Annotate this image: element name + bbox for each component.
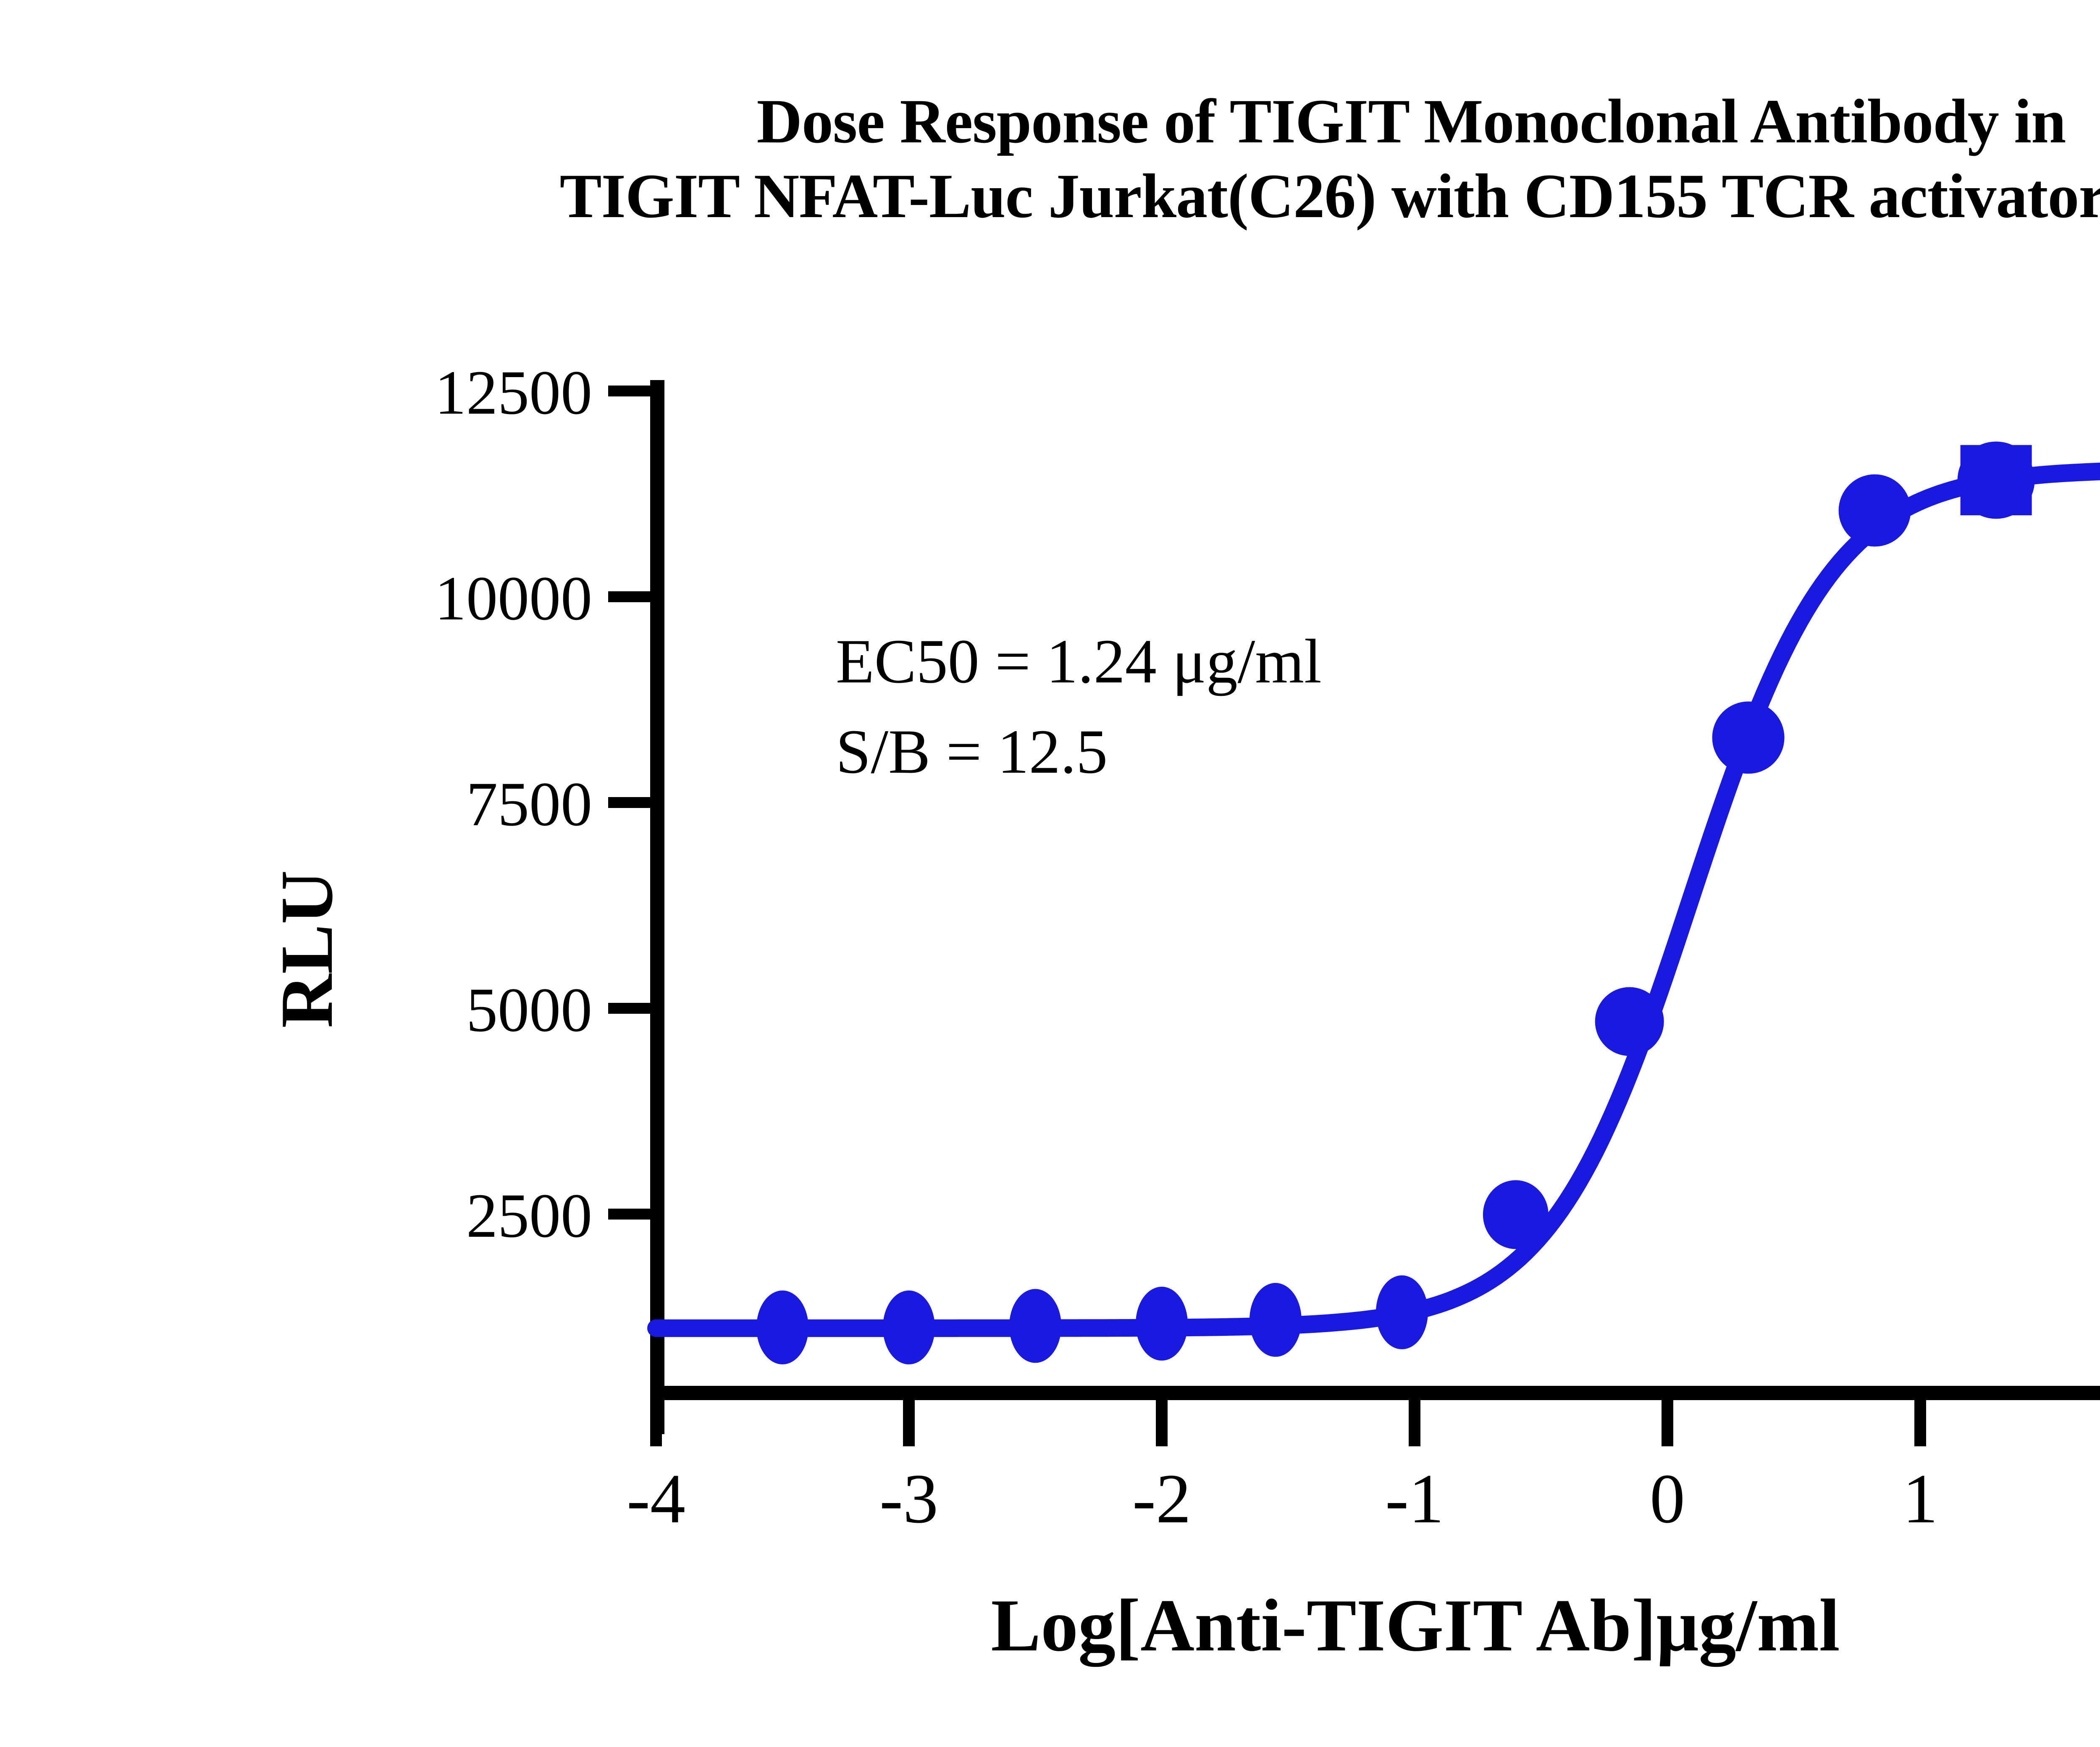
y-tick-2500 xyxy=(608,1209,652,1220)
data-point xyxy=(1483,1180,1549,1249)
data-point xyxy=(1712,701,1785,774)
data-points xyxy=(756,441,2035,1364)
data-point xyxy=(1009,1289,1061,1363)
y-axis-title: RLU xyxy=(265,870,348,1028)
y-tick-label-5000: 5000 xyxy=(466,975,592,1045)
x-tick-label-m2: -2 xyxy=(1132,1460,1191,1538)
x-tick-m3 xyxy=(903,1400,915,1446)
y-tick-label-12500: 12500 xyxy=(435,358,592,428)
x-tick-0 xyxy=(1662,1400,1673,1446)
dose-response-curve xyxy=(656,470,2100,1328)
data-point xyxy=(1839,475,1911,547)
x-tick-label-0: 0 xyxy=(1650,1460,1685,1538)
x-tick-1 xyxy=(1914,1400,1926,1446)
data-point xyxy=(883,1291,935,1364)
data-point xyxy=(1958,441,2035,519)
x-tick-marks xyxy=(650,1400,2100,1446)
data-point xyxy=(1595,987,1664,1056)
data-point xyxy=(1136,1287,1188,1361)
annotation-ec50: EC50 = 1.24 μg/ml xyxy=(836,627,1322,696)
x-axis-line xyxy=(650,1386,2100,1400)
x-tick-label-m3: -3 xyxy=(879,1460,938,1538)
y-tick-12500 xyxy=(608,386,652,396)
x-tick-m1 xyxy=(1409,1400,1420,1446)
plot-area: 2500 5000 7500 10000 12500 -4 -3 -2 -1 0… xyxy=(0,0,2100,1747)
y-tick-7500 xyxy=(608,797,652,808)
x-tick-m4 xyxy=(650,1400,662,1446)
chart-figure: Dose Response of TIGIT Monoclonal Antibo… xyxy=(0,0,2100,1747)
x-tick-label-m1: -1 xyxy=(1385,1460,1444,1538)
data-point xyxy=(756,1291,808,1364)
y-tick-label-10000: 10000 xyxy=(435,564,592,633)
data-point xyxy=(1249,1283,1302,1357)
y-tick-marks xyxy=(608,386,652,1220)
y-tick-label-7500: 7500 xyxy=(466,769,592,839)
x-axis-title: Log[Anti-TIGIT Ab]μg/ml xyxy=(991,1584,1840,1667)
annotation-signal-to-background: S/B = 12.5 xyxy=(836,717,1108,787)
x-tick-label-m4: -4 xyxy=(627,1460,685,1538)
y-tick-5000 xyxy=(608,1003,652,1014)
y-tick-label-2500: 2500 xyxy=(466,1181,592,1251)
x-tick-m2 xyxy=(1156,1400,1168,1446)
y-axis-line xyxy=(650,380,664,1434)
data-point xyxy=(1376,1275,1428,1349)
x-tick-label-1: 1 xyxy=(1903,1460,1938,1538)
y-tick-10000 xyxy=(608,591,652,602)
